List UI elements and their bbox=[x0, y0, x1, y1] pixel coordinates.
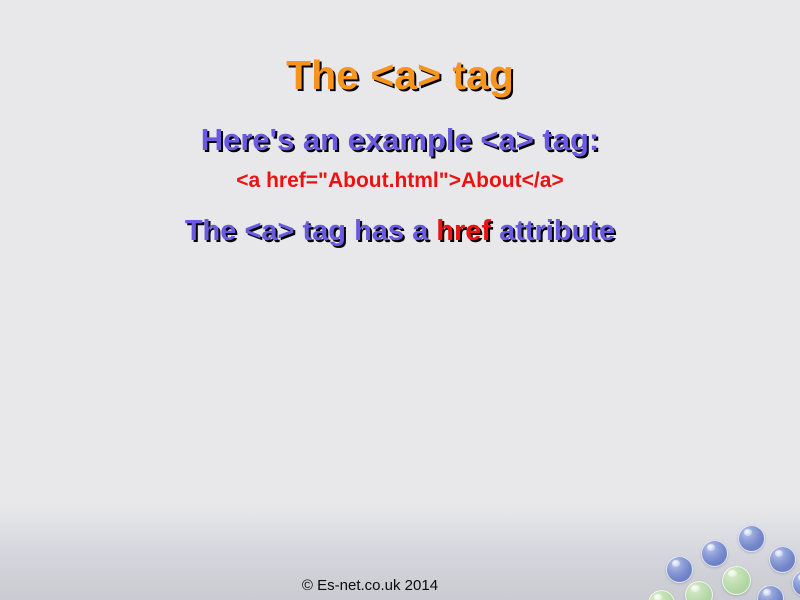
statement-keyword: href bbox=[436, 215, 491, 247]
sphere-body bbox=[769, 546, 796, 573]
sphere-highlight bbox=[744, 529, 753, 536]
sphere-body bbox=[701, 540, 728, 567]
sphere-blue bbox=[769, 546, 796, 573]
sphere-highlight bbox=[672, 560, 681, 567]
sphere-body bbox=[738, 525, 765, 552]
sphere-blue bbox=[738, 525, 765, 552]
subtitle-text: Here's an example <a> tag: bbox=[0, 122, 800, 158]
statement-prefix: The <a> tag has a bbox=[185, 215, 436, 247]
statement-text: The <a> tag has a href attribute bbox=[0, 214, 800, 248]
sphere-body bbox=[792, 570, 800, 597]
slide-canvas: The <a> tag Here's an example <a> tag: <… bbox=[0, 0, 800, 600]
code-example-text: <a href="About.html">About</a> bbox=[0, 168, 800, 194]
sphere-blue bbox=[792, 570, 800, 597]
sphere-highlight bbox=[707, 544, 716, 551]
sphere-blue bbox=[757, 585, 784, 600]
sphere-highlight bbox=[763, 589, 772, 596]
sphere-body bbox=[757, 585, 784, 600]
sphere-blue bbox=[701, 540, 728, 567]
page-title: The <a> tag bbox=[0, 52, 800, 98]
sphere-highlight bbox=[775, 550, 784, 557]
footer-copyright: © Es-net.co.uk 2014 bbox=[0, 576, 740, 595]
statement-suffix: attribute bbox=[491, 215, 615, 247]
